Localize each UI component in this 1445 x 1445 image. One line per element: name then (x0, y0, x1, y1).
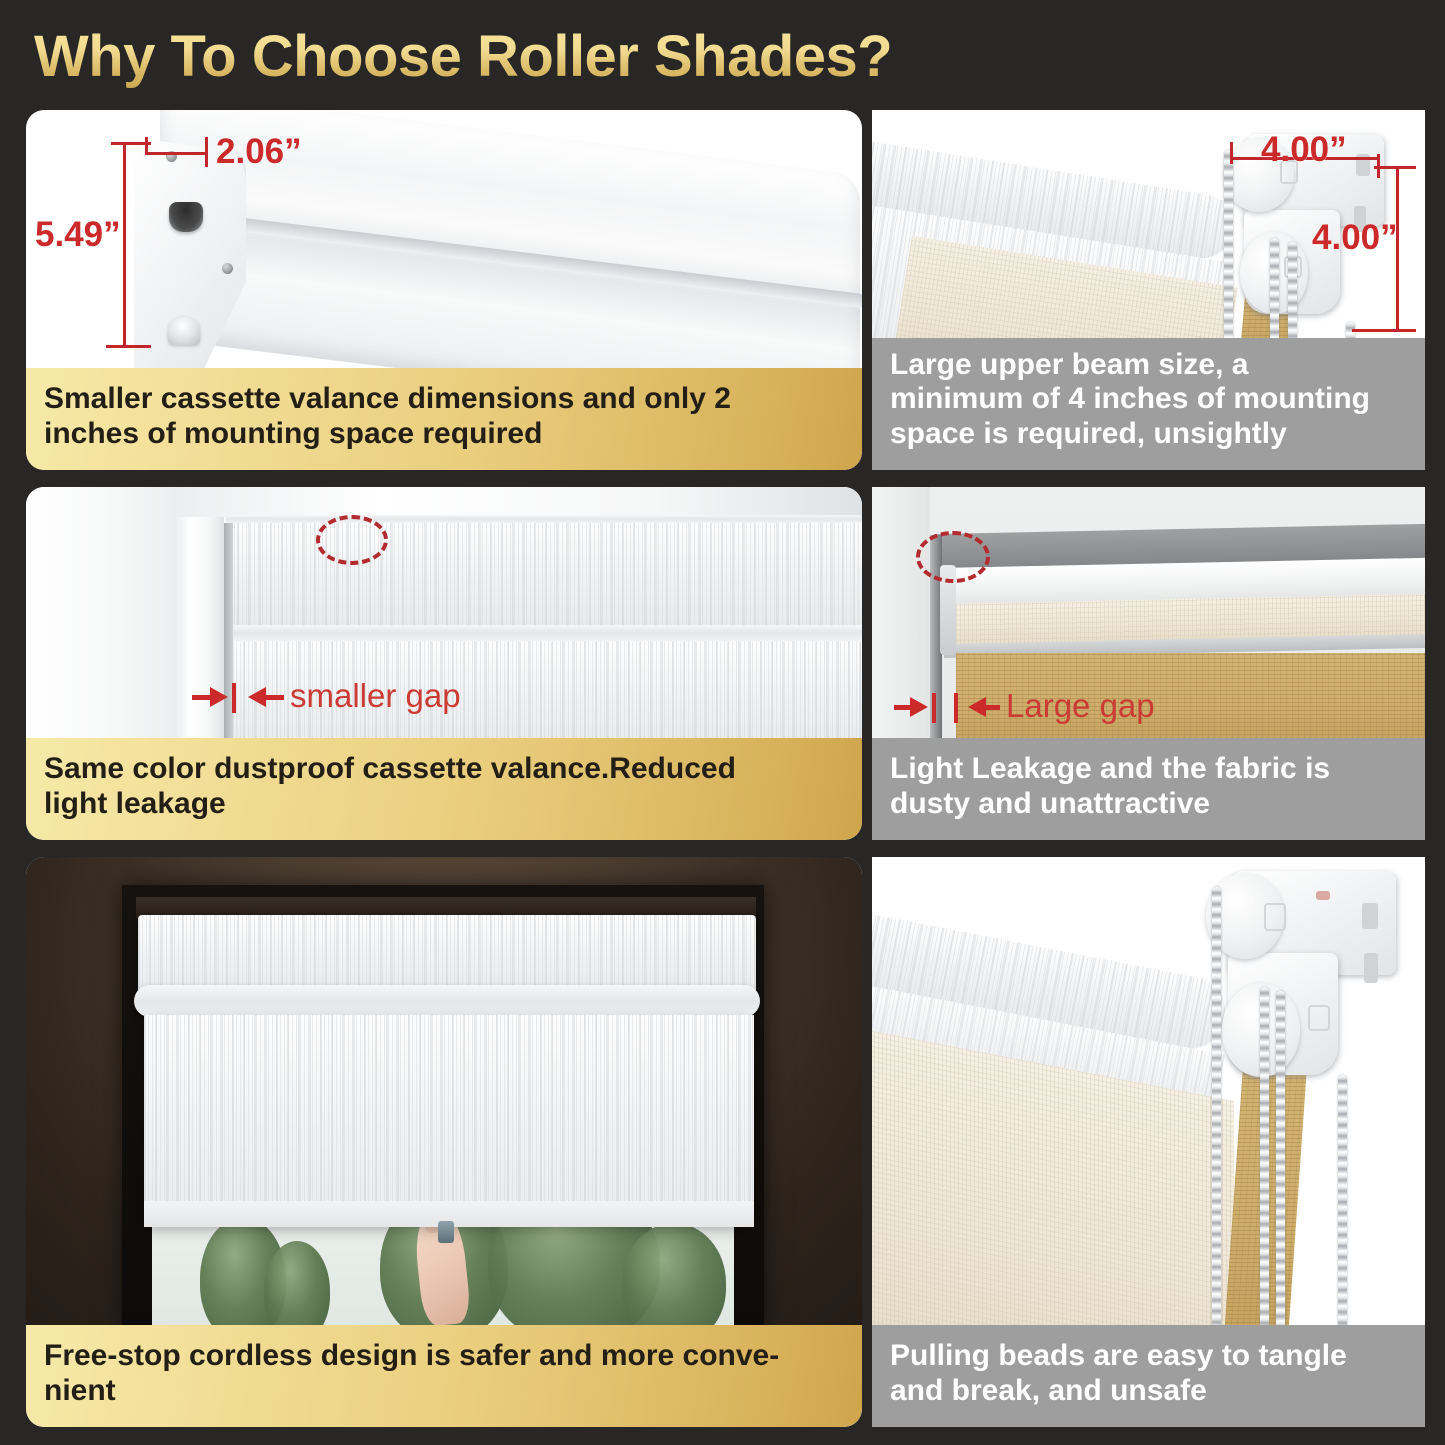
height-dimension-label: 5.49” (35, 215, 121, 255)
top-right-width-tick-left (1230, 142, 1233, 164)
panel-middle-left: smaller gap Same color dustproof cassett… (26, 487, 862, 840)
shade-pull-tab (438, 1221, 454, 1243)
gap-arrow-left-head (910, 697, 928, 717)
gap-highlight-ellipse (916, 531, 990, 583)
caption-line-1: Smaller cassette valance dimensions and … (44, 382, 731, 417)
caption-line-2: minimum of 4 inches of mounting (890, 382, 1370, 417)
infographic-root: Why To Choose Roller Shades? 2.06” 5.49”… (0, 0, 1445, 1445)
gap-arrow-right-stem (986, 705, 1000, 710)
gap-marker-bar (232, 683, 236, 713)
gap-label-large: Large gap (1006, 687, 1155, 725)
bracket-screw-slot-2 (1364, 953, 1378, 983)
cassette-bottom-rail (134, 985, 760, 1017)
bracket-arrow-icon-bottom (1308, 1005, 1330, 1031)
caption-line-1: Same color dustproof cassette valance.Re… (44, 752, 736, 787)
caption-line-1: Pulling beads are easy to tangle (890, 1339, 1347, 1374)
gap-arrow-left-stem (894, 705, 910, 710)
gap-marker-bar-2 (954, 693, 958, 723)
gap-arrow-right-head (248, 687, 266, 707)
gap-marker-bar-1 (932, 693, 936, 723)
gap-arrow-left-stem (192, 695, 210, 700)
height-dimension-tick-top (111, 142, 151, 145)
panel-bottom-left-caption: Free-stop cordless design is safer and m… (26, 1325, 862, 1427)
panel-top-left: 2.06” 5.49” Smaller cassette valance dim… (26, 110, 862, 470)
panel-bottom-right-image (872, 857, 1425, 1335)
gap-arrow-right-stem (266, 695, 284, 700)
panel-middle-right-image: Large gap (872, 487, 1425, 743)
width-dimension-line (147, 152, 207, 155)
caption-line-2: nient (44, 1374, 779, 1409)
panel-middle-left-image: smaller gap (26, 487, 862, 745)
panel-top-right-caption: Large upper beam size, a minimum of 4 in… (872, 338, 1425, 470)
bead-chain-inner (1276, 991, 1285, 1335)
width-dimension-label: 2.06” (216, 132, 302, 172)
window-frame-head (176, 487, 862, 517)
top-right-height-tick-bottom (1352, 329, 1416, 332)
gap-highlight-ellipse (316, 515, 388, 565)
cassette-mid-rail (226, 625, 862, 641)
panel-top-right-image: 4.00” 4.00” (872, 110, 1425, 362)
tree-left-small (264, 1241, 330, 1329)
panel-bottom-left: Free-stop cordless design is safer and m… (26, 857, 862, 1427)
caption-line-2: light leakage (44, 787, 736, 822)
shade-fabric-main (144, 1015, 754, 1223)
bracket-indicator-dot (1316, 891, 1330, 900)
bracket-screw-slot-1 (1362, 903, 1378, 929)
bead-chain-right (1338, 1075, 1347, 1335)
width-dimension-tick-left (145, 137, 148, 155)
top-right-height-tick-top (1374, 166, 1416, 169)
caption-line-2: and break, and unsafe (890, 1374, 1347, 1409)
height-dimension-tick-bottom (106, 345, 151, 348)
panel-top-right: 4.00” 4.00” Large upper beam size, a min… (872, 110, 1425, 470)
bead-chain-middle (1260, 987, 1269, 1335)
top-right-width-label: 4.00” (1261, 130, 1347, 170)
end-cap-screw-bottom-icon (222, 263, 233, 274)
cassette-top-rail (226, 515, 862, 523)
tree-far-right (622, 1223, 726, 1329)
panel-bottom-right: Pulling beads are easy to tangle and bre… (872, 857, 1425, 1427)
gap-arrow-left-head (210, 687, 228, 707)
panel-top-left-caption: Smaller cassette valance dimensions and … (26, 368, 862, 470)
caption-line-2: dusty and unattractive (890, 787, 1330, 822)
panel-middle-right: Large gap Light Leakage and the fabric i… (872, 487, 1425, 840)
caption-line-2: inches of mounting space required (44, 417, 731, 452)
page-title: Why To Choose Roller Shades? (34, 22, 1034, 92)
window-frame-outer (26, 487, 194, 745)
panel-bottom-right-caption: Pulling beads are easy to tangle and bre… (872, 1325, 1425, 1427)
bracket-arrow-icon-top (1264, 903, 1286, 931)
panel-middle-left-caption: Same color dustproof cassette valance.Re… (26, 738, 862, 840)
end-cap-knob-icon (168, 317, 200, 345)
caption-line-1: Light Leakage and the fabric is (890, 752, 1330, 787)
width-dimension-tick-right (205, 137, 208, 167)
end-cap-slot-icon (169, 202, 203, 232)
top-right-height-label: 4.00” (1312, 218, 1398, 258)
height-dimension-line (123, 142, 126, 348)
bead-chain-left (1212, 887, 1221, 1335)
panel-top-left-image: 2.06” 5.49” (26, 110, 862, 372)
panel-bottom-left-image (26, 857, 862, 1329)
gap-arrow-right-head (968, 697, 986, 717)
caption-line-1: Large upper beam size, a (890, 348, 1370, 383)
caption-line-1: Free-stop cordless design is safer and m… (44, 1339, 779, 1374)
caption-line-3: space is required, unsightly (890, 417, 1370, 452)
panel-middle-right-caption: Light Leakage and the fabric is dusty an… (872, 738, 1425, 840)
cassette-valance (138, 915, 756, 993)
gap-label-smaller: smaller gap (290, 677, 461, 715)
bead-chain-left (1224, 150, 1233, 362)
